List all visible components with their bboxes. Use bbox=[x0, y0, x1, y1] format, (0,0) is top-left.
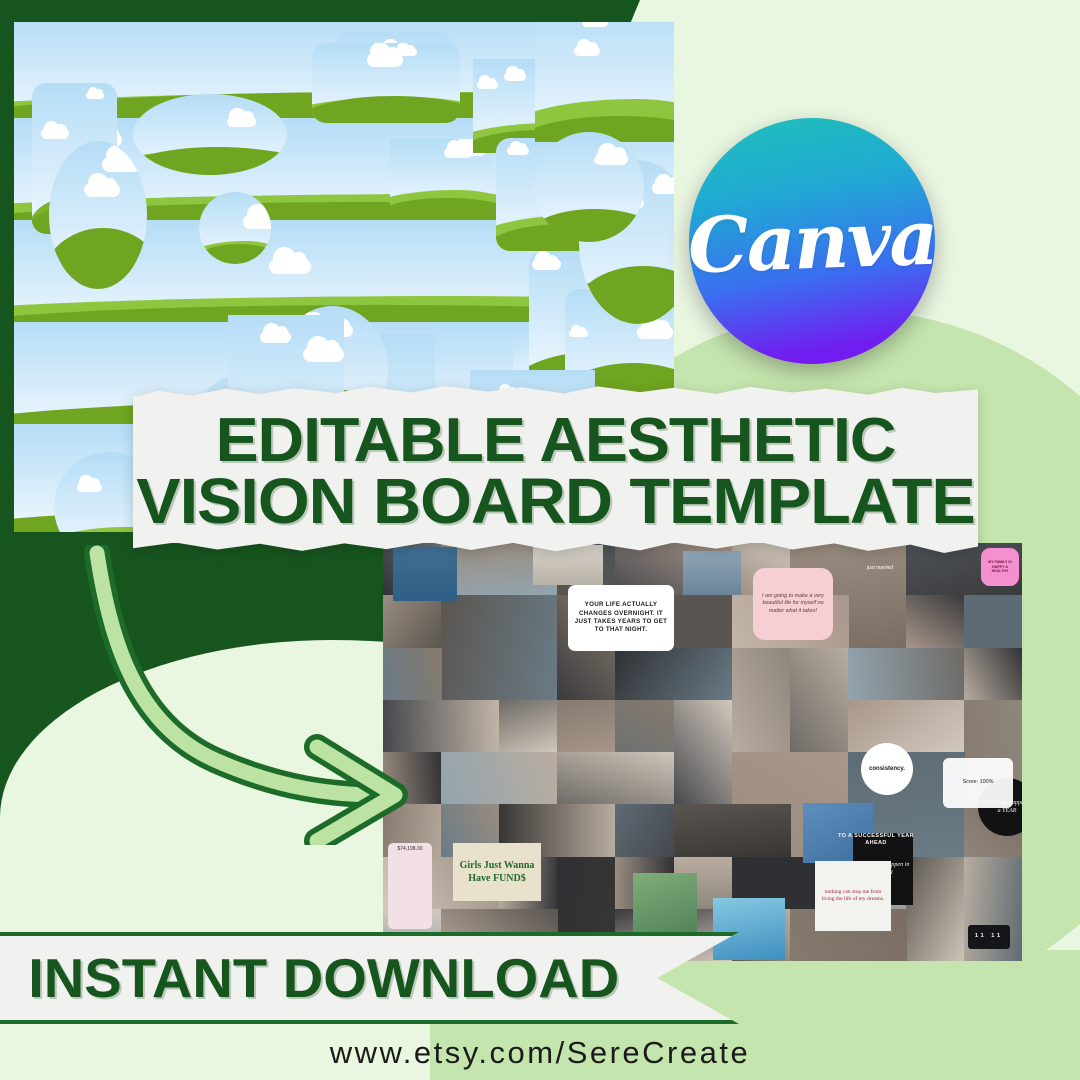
title-card: EDITABLE AESTHETIC VISION BOARD TEMPLATE bbox=[133, 396, 978, 543]
landscape-tile bbox=[199, 192, 271, 264]
note-just-married: just married bbox=[851, 561, 909, 575]
cloud-icon bbox=[77, 483, 102, 493]
curved-arrow-icon bbox=[45, 545, 425, 845]
hill-shape bbox=[534, 209, 644, 242]
note-score: Score: 100% bbox=[943, 758, 1013, 808]
note-family-text: MY FAMILY IS HAPPY & HEALTHY bbox=[984, 560, 1016, 575]
cloud-icon bbox=[582, 22, 608, 27]
collage-image-tile bbox=[615, 648, 732, 701]
canva-wordmark: Canva bbox=[686, 192, 937, 290]
collage-image-tile bbox=[499, 700, 558, 753]
cloud-icon bbox=[532, 259, 561, 270]
instant-download-ribbon: INSTANT DOWNLOAD bbox=[0, 932, 739, 1024]
cloud-icon bbox=[504, 72, 527, 81]
note-score-text: Score: 100% bbox=[963, 779, 994, 786]
note-funds-text: Girls Just Wanna Have FUND$ bbox=[456, 859, 538, 886]
note-family: MY FAMILY IS HAPPY & HEALTHY bbox=[981, 548, 1019, 586]
collage-image-tile bbox=[674, 595, 733, 648]
note-balance-text: $74,198.00 bbox=[397, 846, 422, 853]
note-consistency: consistency. bbox=[861, 743, 913, 795]
collage-image-tile bbox=[533, 545, 603, 585]
ribbon-label: INSTANT DOWNLOAD bbox=[28, 946, 619, 1010]
canva-logo-badge: Canva bbox=[689, 118, 935, 364]
note-successful-year: TO A SUCCESSFUL YEAR AHEAD bbox=[831, 834, 921, 846]
collage-image-tile bbox=[615, 804, 674, 857]
note-balance: $74,198.00 bbox=[388, 843, 432, 929]
title-line-1: EDITABLE AESTHETIC bbox=[116, 412, 995, 469]
hill-shape bbox=[49, 228, 147, 289]
cloud-icon bbox=[269, 259, 310, 275]
note-dreams: nothing can stop me from living the life… bbox=[815, 861, 891, 931]
note-sticky-pink: I am going to make a very beautiful life… bbox=[753, 568, 833, 640]
cloud-icon bbox=[569, 330, 588, 337]
collage-image-tile bbox=[674, 804, 791, 857]
collage-image-tile bbox=[848, 648, 965, 701]
landscape-tile bbox=[535, 22, 674, 142]
landscape-tile bbox=[133, 94, 287, 175]
collage-image-tile bbox=[964, 648, 1022, 701]
collage-image-tile bbox=[441, 595, 558, 700]
note-funds: Girls Just Wanna Have FUND$ bbox=[453, 843, 541, 901]
collage-image-tile bbox=[790, 648, 849, 753]
cloud-icon bbox=[84, 183, 120, 197]
collage-image-tile bbox=[557, 752, 674, 805]
collage-image-tile bbox=[674, 700, 733, 805]
collage-image-tile bbox=[732, 648, 791, 753]
note-successful-year-text: TO A SUCCESSFUL YEAR AHEAD bbox=[834, 833, 918, 848]
note-dreams-text: nothing can stop me from living the life… bbox=[818, 889, 888, 904]
cloud-icon bbox=[594, 157, 613, 164]
cloud-icon bbox=[477, 81, 498, 89]
collage-image-tile bbox=[848, 700, 965, 753]
cloud-icon bbox=[637, 326, 673, 340]
cloud-icon bbox=[243, 215, 271, 229]
collage-image-tile bbox=[557, 700, 616, 753]
collage-image-tile bbox=[441, 752, 558, 805]
note-clock-text: 11 11 bbox=[975, 933, 1003, 940]
landscape-tile bbox=[534, 132, 644, 242]
cloud-icon bbox=[652, 182, 674, 194]
collage-image-tile bbox=[906, 595, 965, 648]
cloud-icon bbox=[86, 92, 104, 99]
note-just-married-text: just married bbox=[867, 565, 893, 572]
note-overnight-text: YOUR LIFE ACTUALLY CHANGES OVERNIGHT. IT… bbox=[571, 601, 671, 634]
note-consistency-text: consistency. bbox=[869, 765, 905, 773]
hill-shape bbox=[133, 147, 287, 175]
cloud-icon bbox=[303, 347, 344, 362]
poster-canvas: YOUR LIFE ACTUALLY CHANGES OVERNIGHT. IT… bbox=[0, 0, 1080, 1080]
collage-image-tile bbox=[964, 595, 1022, 648]
cloud-icon bbox=[41, 128, 69, 139]
collage-image-tile bbox=[683, 551, 741, 595]
vision-board-collage-preview: YOUR LIFE ACTUALLY CHANGES OVERNIGHT. IT… bbox=[383, 543, 1022, 961]
cloud-icon bbox=[507, 147, 529, 155]
cloud-icon bbox=[227, 116, 256, 127]
shop-url[interactable]: www.etsy.com/SereCreate bbox=[0, 1035, 1080, 1071]
hill-shape bbox=[579, 266, 674, 324]
note-sticky-pink-text: I am going to make a very beautiful life… bbox=[756, 593, 830, 615]
landscape-tile bbox=[312, 43, 460, 123]
cloud-icon bbox=[260, 331, 291, 343]
note-clock: 11 11 bbox=[968, 925, 1010, 949]
cloud-icon bbox=[395, 48, 416, 56]
cloud-icon bbox=[574, 46, 599, 56]
note-overnight: YOUR LIFE ACTUALLY CHANGES OVERNIGHT. IT… bbox=[568, 585, 674, 651]
collage-image-tile bbox=[906, 857, 965, 962]
title-line-2: VISION BOARD TEMPLATE bbox=[116, 472, 995, 531]
